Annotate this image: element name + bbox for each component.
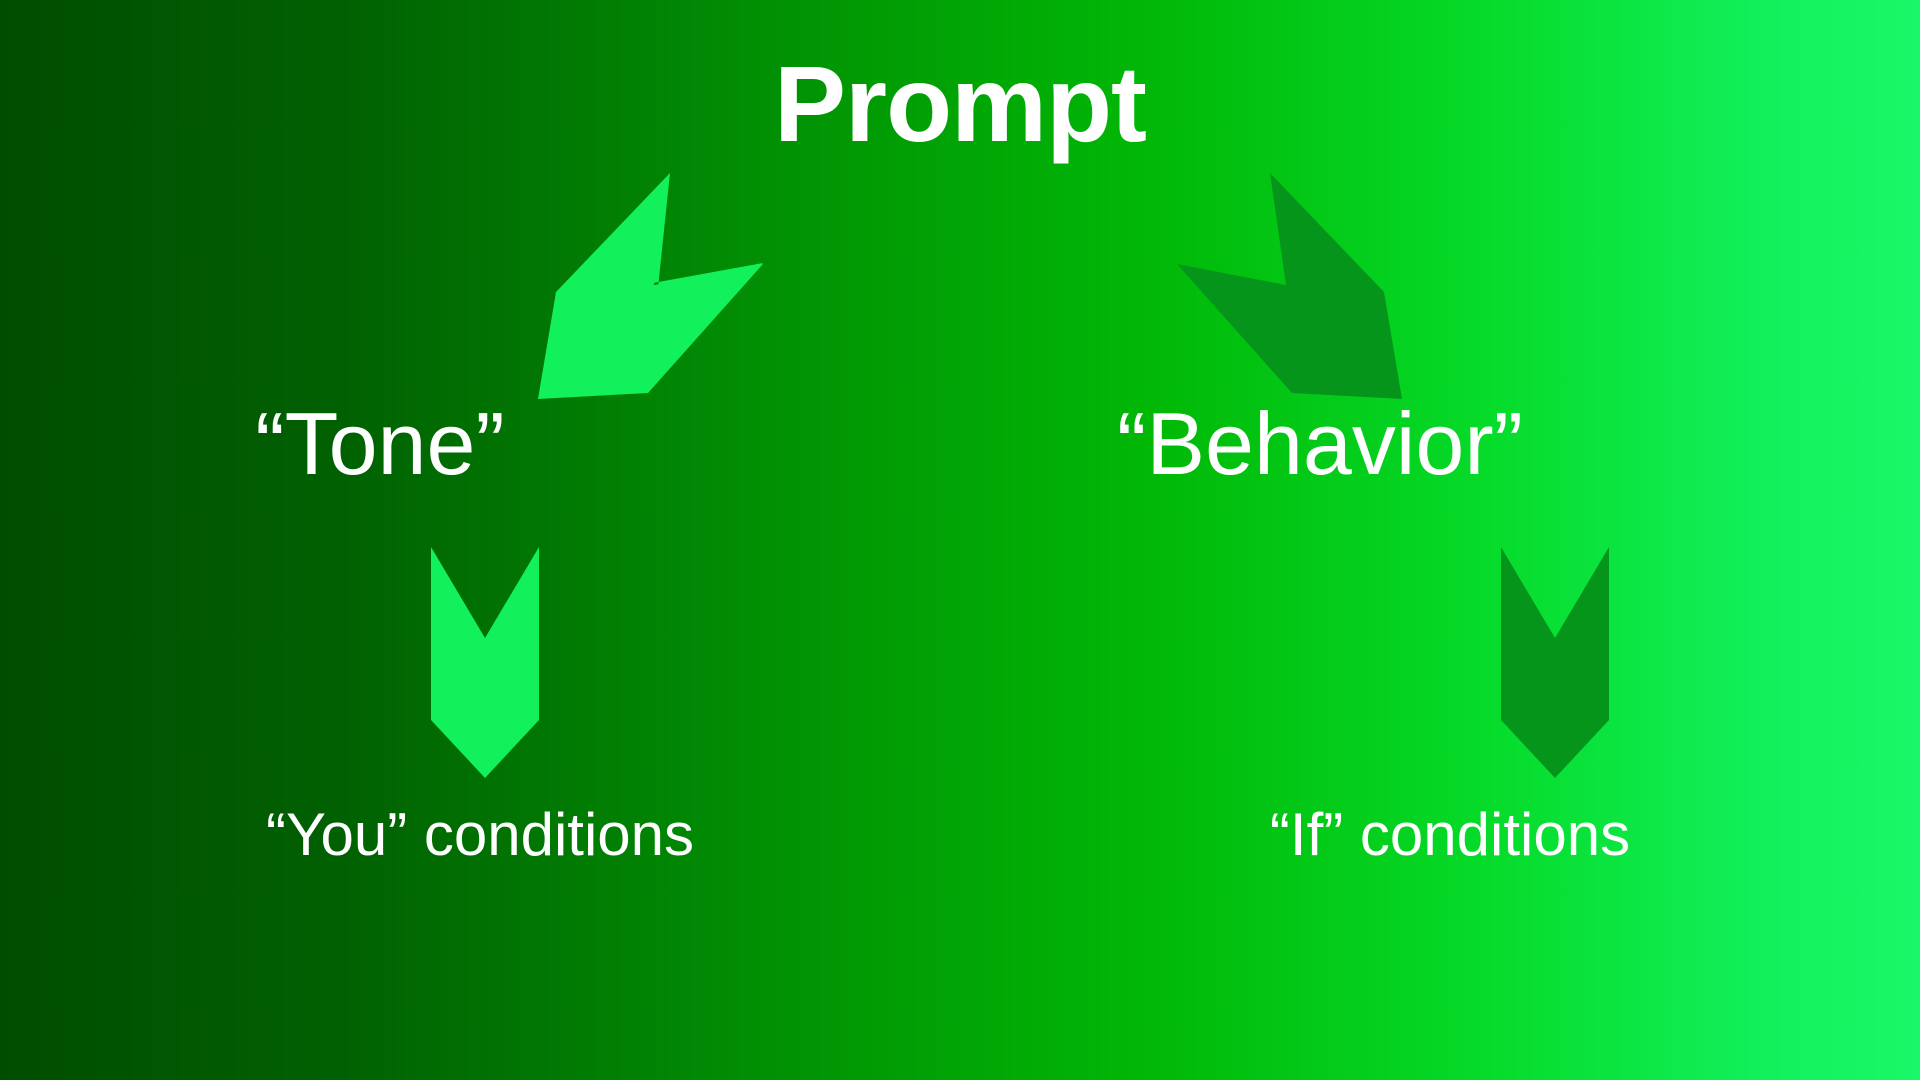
- page-title: Prompt: [0, 50, 1920, 158]
- node-label-behavior: “Behavior”: [1000, 400, 1640, 488]
- arrow-prompt-to-tone-icon: [520, 165, 770, 415]
- slide-canvas: Prompt “Tone” “Behavior” “You” condition…: [0, 0, 1920, 1080]
- node-label-tone: “Tone”: [0, 400, 760, 488]
- node-label-if-conditions: “If” conditions: [980, 805, 1920, 865]
- arrow-behavior-to-if-conditions-icon: [1465, 530, 1645, 780]
- arrow-tone-to-you-conditions-icon: [395, 530, 575, 780]
- node-label-you-conditions: “You” conditions: [0, 805, 960, 865]
- arrow-prompt-to-behavior-icon: [1170, 165, 1420, 415]
